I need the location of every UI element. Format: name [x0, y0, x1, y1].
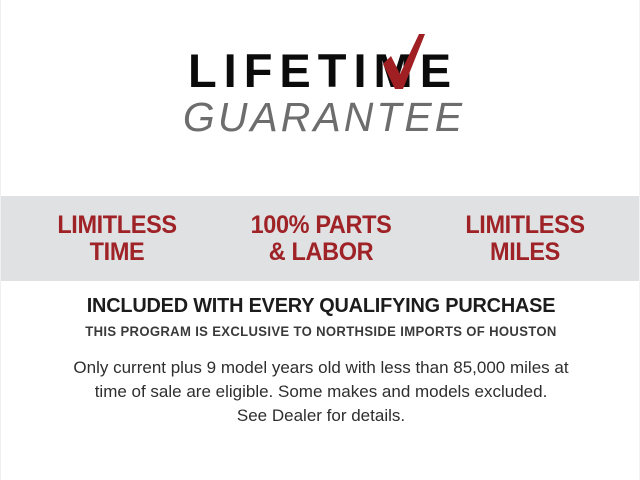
feature-line-1: LIMITLESS: [21, 212, 213, 239]
logo-guarantee-text: GUARANTEE: [1, 94, 640, 141]
subheadline: THIS PROGRAM IS EXCLUSIVE TO NORTHSIDE I…: [11, 324, 632, 339]
disclaimer-text: Only current plus 9 model years old with…: [1, 356, 640, 428]
feature-line-1: 100% PARTS: [225, 212, 417, 239]
feature-line-2: MILES: [429, 239, 621, 266]
feature-line-2: TIME: [21, 239, 213, 266]
feature-line-2: & LABOR: [225, 239, 417, 266]
feature-column-limitless-miles: LIMITLESS MILES: [429, 212, 621, 266]
headline: INCLUDED WITH EVERY QUALIFYING PURCHASE: [11, 294, 632, 318]
feature-line-1: LIMITLESS: [429, 212, 621, 239]
promo-graphic: LIFETIME GUARANTEE LIMITLESS TIME 100% P…: [0, 0, 640, 480]
feature-column-limitless-time: LIMITLESS TIME: [21, 212, 213, 266]
disclaimer-line: Only current plus 9 model years old with…: [41, 356, 601, 380]
lifetime-guarantee-logo: LIFETIME GUARANTEE: [1, 46, 640, 141]
disclaimer-line: See Dealer for details.: [41, 404, 601, 428]
feature-column-parts-labor: 100% PARTS & LABOR: [225, 212, 417, 266]
logo-wordmark-wrap: LIFETIME: [184, 46, 458, 96]
disclaimer-line: time of sale are eligible. Some makes an…: [41, 380, 601, 404]
feature-banner: LIMITLESS TIME 100% PARTS & LABOR LIMITL…: [1, 196, 640, 281]
lower-text-block: INCLUDED WITH EVERY QUALIFYING PURCHASE …: [1, 294, 640, 428]
logo-lifetime-text: LIFETIME: [184, 46, 458, 96]
